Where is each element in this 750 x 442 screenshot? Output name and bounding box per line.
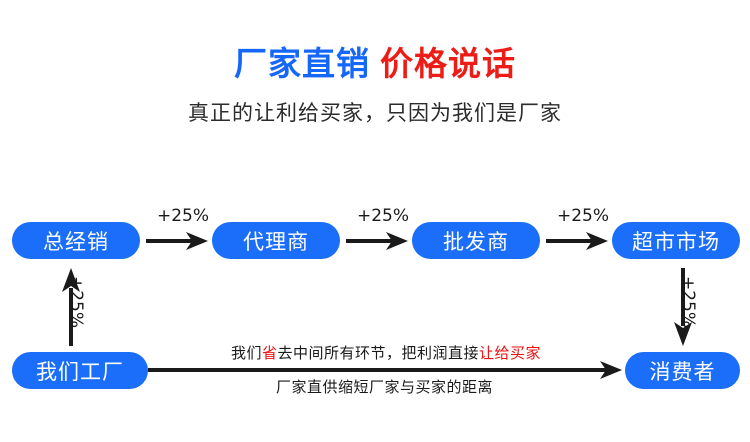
flow-node-agent[interactable]: 代理商 <box>212 222 340 259</box>
flow-node-label: 代理商 <box>243 226 309 256</box>
flow-node-consumer[interactable]: 消费者 <box>625 352 740 389</box>
flow-node-label: 我们工厂 <box>36 356 124 386</box>
promo-banner: 厂家直销价格说话 真正的让利给买家，只因为我们是厂家 总经销 代理商 批发商 超… <box>0 0 750 442</box>
markup-label-distributor-to-agent: +25% <box>157 206 209 226</box>
arrow-distributor-to-agent-icon <box>146 230 208 252</box>
arrow-agent-to-wholesaler-icon <box>346 230 408 252</box>
arrow-wholesaler-to-supermarket-icon <box>546 230 608 252</box>
note-highlight-save: 省 <box>262 344 278 362</box>
page-subtitle: 真正的让利给买家，只因为我们是厂家 <box>0 98 750 128</box>
page-title: 厂家直销价格说话 <box>0 44 750 84</box>
markup-label-agent-to-wholesaler: +25% <box>357 206 409 226</box>
page-title-red-part: 价格说话 <box>380 44 516 83</box>
direct-supply-note-line1: 我们省去中间所有环节，把利润直接让给买家 <box>231 342 541 363</box>
flow-node-label: 消费者 <box>650 356 716 386</box>
markup-label-supermarket-to-consumer: +25% <box>678 276 698 328</box>
direct-supply-note-line2: 厂家直供缩短厂家与买家的距离 <box>276 376 493 397</box>
page-title-blue-part: 厂家直销 <box>234 44 370 83</box>
note-text-segment: 我们 <box>231 344 262 362</box>
markup-label-factory-to-distributor: +25% <box>66 276 86 328</box>
flow-node-our-factory[interactable]: 我们工厂 <box>12 352 148 389</box>
flow-node-supermarket[interactable]: 超市市场 <box>612 222 740 259</box>
note-highlight-give-to-buyer: 让给买家 <box>479 344 541 362</box>
flow-node-wholesaler[interactable]: 批发商 <box>412 222 540 259</box>
flow-node-label: 总经销 <box>43 226 109 256</box>
flow-node-general-distributor[interactable]: 总经销 <box>12 222 140 259</box>
flow-node-label: 超市市场 <box>632 226 720 256</box>
markup-label-wholesaler-to-supermarket: +25% <box>557 206 609 226</box>
note-text-segment: 去中间所有环节，把利润直接 <box>278 344 480 362</box>
flow-node-label: 批发商 <box>443 226 509 256</box>
